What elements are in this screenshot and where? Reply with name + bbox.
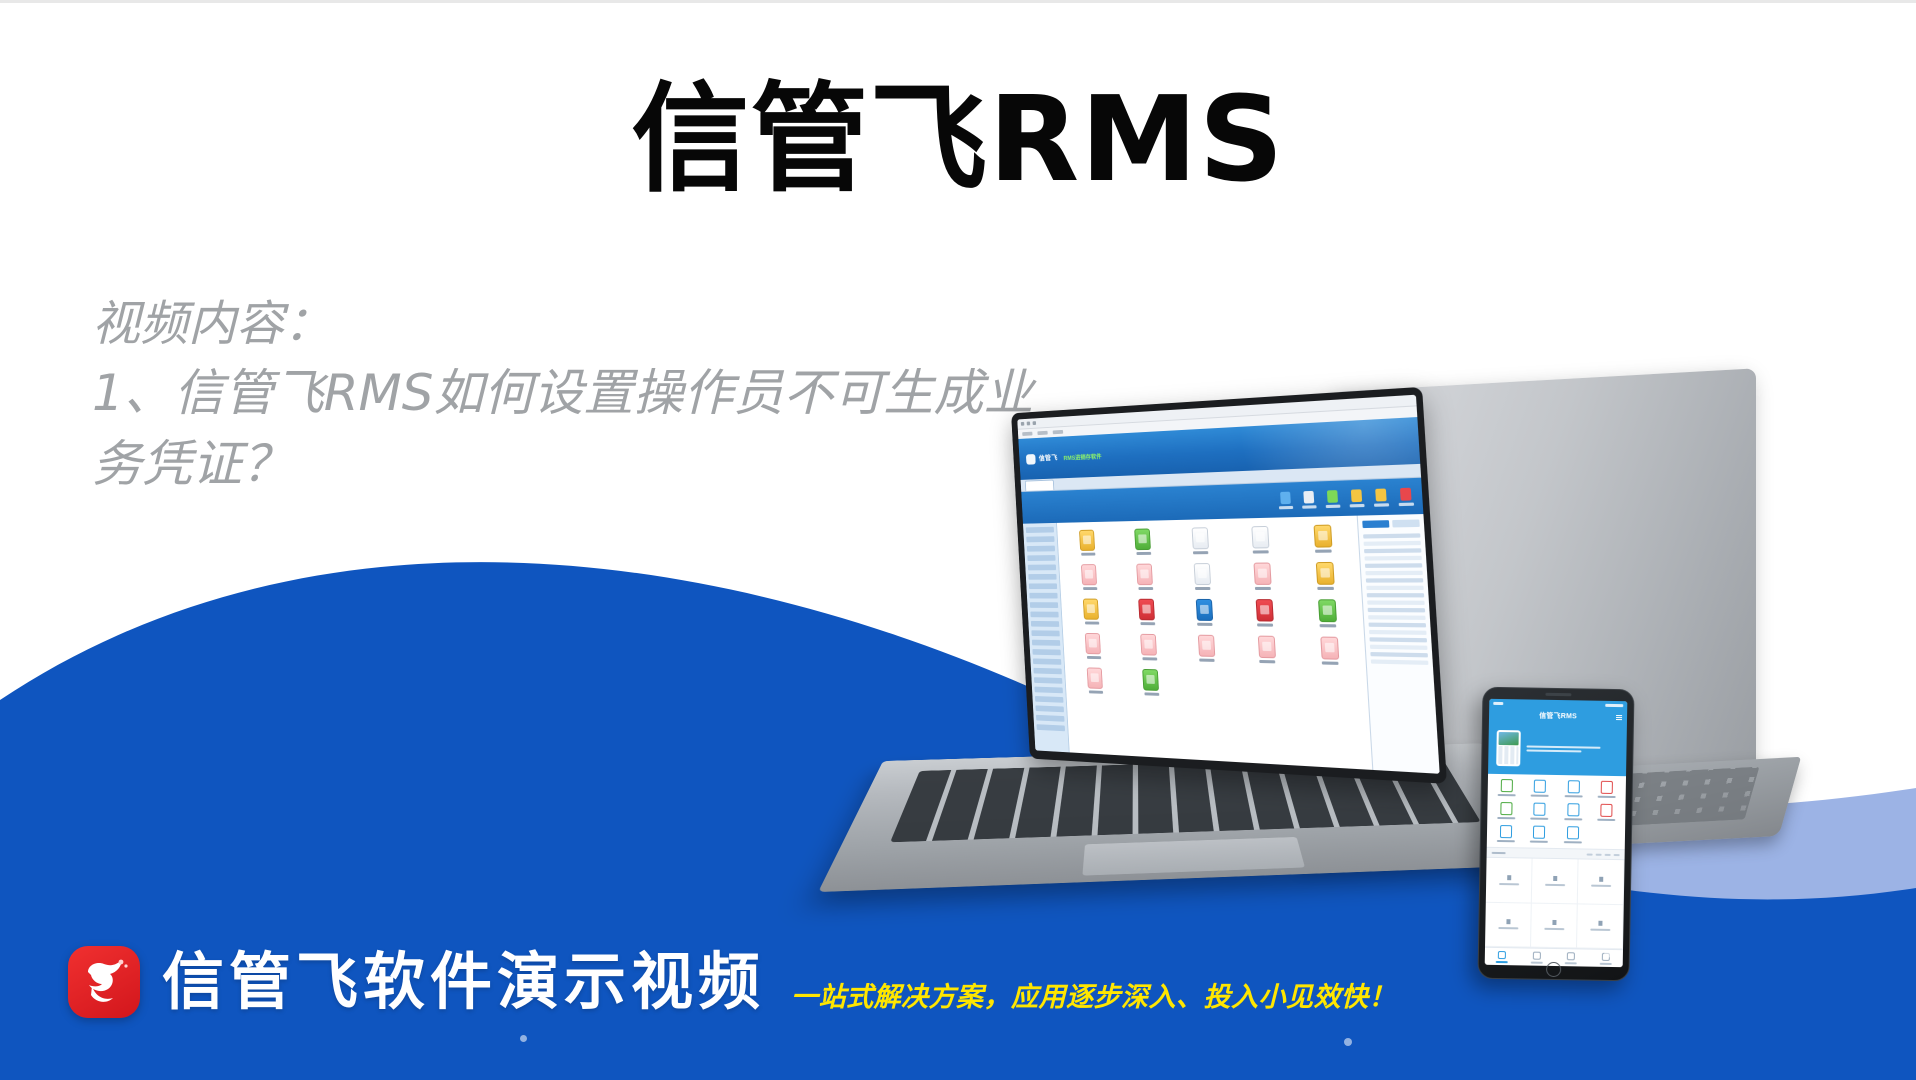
decorative-dot — [1604, 951, 1611, 958]
top-divider — [0, 0, 1916, 3]
promo-image — [1499, 732, 1519, 745]
toolbar-icon — [1375, 488, 1386, 501]
decorative-dot — [1344, 1038, 1352, 1046]
toolbar-icon — [1351, 489, 1362, 502]
module-icon — [1142, 669, 1159, 691]
window-icon — [1033, 421, 1037, 425]
sidebar-item[interactable] — [1034, 687, 1062, 694]
front-laptop-trackpad — [1082, 837, 1305, 876]
mobile-module-tile[interactable] — [1524, 825, 1555, 843]
right-panel-row[interactable] — [1368, 608, 1426, 613]
mobile-module-label — [1597, 819, 1615, 821]
module-icon — [1251, 526, 1269, 549]
mobile-app-header: 信管飞RMS — [1489, 707, 1627, 724]
mobile-module-label — [1563, 841, 1581, 843]
module-label — [1136, 552, 1151, 555]
brand-row: 信管飞软件演示视频 一站式解决方案，应用逐步深入、投入小见效快！ — [68, 946, 1396, 1018]
right-panel-row[interactable] — [1366, 578, 1423, 582]
mobile-module-label — [1564, 795, 1582, 797]
mobile-module-tile[interactable] — [1492, 779, 1523, 797]
module-label — [1260, 660, 1276, 663]
module-tile[interactable] — [1175, 563, 1230, 590]
stat-label — [1499, 883, 1519, 885]
module-icon — [1318, 599, 1337, 622]
mobile-module-label — [1498, 794, 1516, 796]
module-icon — [1198, 635, 1215, 657]
toolbar-button[interactable] — [1277, 491, 1294, 509]
mobile-module-icon — [1534, 780, 1546, 793]
stat-cell — [1486, 858, 1533, 903]
sidebar-item[interactable] — [1036, 715, 1065, 722]
right-panel-row[interactable] — [1369, 630, 1427, 635]
mobile-module-icon — [1567, 803, 1579, 816]
module-tile[interactable] — [1119, 563, 1172, 590]
window-icon — [1027, 422, 1031, 426]
mobile-module-icon — [1600, 804, 1612, 817]
stat-label — [1591, 884, 1611, 886]
mobile-module-icon — [1501, 779, 1513, 792]
mobile-module-label — [1497, 840, 1515, 842]
sidebar-item[interactable] — [1028, 574, 1056, 580]
module-tile[interactable] — [1121, 599, 1174, 626]
promo-phone-illustration — [1496, 730, 1521, 766]
module-icon — [1138, 599, 1155, 621]
toolbar-label — [1326, 504, 1341, 508]
right-panel-row[interactable] — [1364, 541, 1421, 546]
menu-item[interactable] — [1053, 430, 1064, 434]
module-label — [1142, 657, 1157, 660]
right-panel-tab[interactable] — [1362, 520, 1389, 528]
module-icon — [1194, 563, 1211, 585]
stat-cell — [1532, 859, 1579, 904]
laptop-screen: 信管飞 RMS进销存软件 — [1017, 395, 1439, 774]
toolbar-icon — [1303, 490, 1314, 503]
bottom-banner: 信管飞软件演示视频 一站式解决方案，应用逐步深入、投入小见效快！ — [0, 900, 1916, 1080]
sidebar-item[interactable] — [1030, 602, 1058, 608]
promo-text-lines — [1526, 745, 1618, 753]
sidebar-item[interactable] — [1029, 593, 1057, 599]
module-icon — [1136, 564, 1153, 586]
module-tile[interactable] — [1063, 529, 1113, 556]
module-icon — [1140, 634, 1157, 656]
toolbar-button[interactable] — [1397, 487, 1416, 506]
toolbar-button[interactable] — [1300, 490, 1317, 508]
module-label — [1315, 549, 1332, 552]
right-panel-row[interactable] — [1368, 615, 1426, 620]
sidebar-item[interactable] — [1027, 546, 1055, 552]
slide-canvas: 信管飞RMS 视频内容： 1、信管飞RMS如何设置操作员不可生成业 务凭证？ — [0, 0, 1916, 1080]
mobile-module-label — [1530, 841, 1548, 843]
module-tile[interactable] — [1064, 564, 1115, 590]
carrier-indicator — [1493, 701, 1503, 704]
erp-module-grid[interactable] — [1063, 524, 1362, 703]
module-icon — [1085, 633, 1101, 654]
brand-tagline: 一站式解决方案，应用逐步深入、投入小见效快！ — [791, 975, 1396, 1018]
sidebar-item[interactable] — [1031, 630, 1059, 636]
right-panel-row[interactable] — [1367, 593, 1425, 597]
mobile-module-label — [1531, 795, 1549, 797]
module-icon — [1134, 528, 1151, 550]
module-tile[interactable] — [1177, 599, 1232, 626]
right-panel-row[interactable] — [1367, 600, 1425, 604]
toolbar-button[interactable] — [1324, 489, 1342, 507]
module-icon — [1320, 637, 1339, 660]
promo-line — [1527, 745, 1601, 748]
window-icon — [1021, 422, 1025, 426]
mobile-module-icon — [1500, 825, 1512, 838]
stat-cell — [1578, 859, 1625, 904]
xinguanfei-bird-logo-icon — [68, 946, 140, 1018]
filter-option[interactable] — [1605, 853, 1611, 855]
module-icon — [1087, 667, 1103, 689]
toolbar-icon — [1327, 490, 1338, 503]
module-label — [1140, 622, 1155, 625]
module-icon — [1253, 563, 1271, 585]
module-tile[interactable] — [1123, 634, 1176, 661]
module-tile[interactable] — [1296, 562, 1355, 590]
mobile-module-tile[interactable] — [1558, 780, 1589, 798]
module-tile[interactable] — [1293, 524, 1352, 553]
module-tile[interactable] — [1117, 528, 1169, 555]
module-icon — [1315, 562, 1334, 585]
erp-body — [1023, 514, 1440, 774]
menu-item[interactable] — [1037, 431, 1047, 435]
module-label — [1193, 551, 1208, 554]
module-icon — [1079, 530, 1095, 551]
mobile-module-tile[interactable] — [1525, 779, 1556, 797]
toolbar-label — [1374, 503, 1389, 507]
mobile-module-icon — [1567, 826, 1579, 839]
sidebar-item[interactable] — [1029, 583, 1057, 589]
hamburger-menu-icon[interactable] — [1616, 714, 1622, 720]
right-panel-tabs[interactable] — [1362, 519, 1420, 528]
module-label — [1085, 622, 1099, 625]
sidebar-item[interactable] — [1035, 705, 1064, 712]
mobile-module-label — [1598, 796, 1616, 798]
toolbar-label — [1399, 502, 1414, 506]
module-tile[interactable] — [1066, 599, 1117, 625]
module-tile[interactable] — [1068, 633, 1119, 660]
filter-option[interactable] — [1614, 854, 1620, 856]
right-panel-row[interactable] — [1365, 563, 1422, 568]
menu-item[interactable] — [1022, 432, 1032, 436]
right-panel-row[interactable] — [1364, 548, 1421, 553]
module-label — [1198, 623, 1213, 626]
mobile-module-label — [1531, 818, 1549, 820]
sidebar-item[interactable] — [1027, 555, 1055, 561]
module-icon — [1196, 599, 1213, 621]
sidebar-item[interactable] — [1032, 640, 1060, 646]
erp-main-panel — [1057, 516, 1372, 770]
module-tile[interactable] — [1239, 635, 1296, 664]
module-label — [1083, 587, 1097, 590]
toolbar-button[interactable] — [1372, 488, 1390, 506]
toolbar-label — [1302, 505, 1316, 508]
sidebar-item[interactable] — [1034, 677, 1062, 684]
module-label — [1087, 656, 1101, 659]
decorative-dot — [520, 1035, 527, 1042]
mobile-module-spacer — [1591, 827, 1622, 845]
module-label — [1089, 690, 1103, 693]
mobile-module-tile[interactable] — [1524, 802, 1555, 820]
stat-value — [1599, 877, 1603, 882]
mobile-module-icon — [1567, 780, 1579, 793]
mobile-module-tile[interactable] — [1591, 804, 1622, 822]
promo-grid — [1498, 746, 1518, 764]
module-label — [1257, 623, 1273, 626]
device-mockup-group: 信管飞 RMS进销存软件 — [880, 370, 1916, 960]
sidebar-item[interactable] — [1026, 536, 1054, 542]
mobile-app-title: 信管飞RMS — [1539, 710, 1577, 721]
module-tile[interactable] — [1236, 599, 1293, 627]
sidebar-item[interactable] — [1032, 649, 1060, 655]
sidebar-item[interactable] — [1030, 612, 1058, 618]
erp-brand-name: 信管飞 — [1039, 453, 1058, 463]
signal-battery-icons — [1605, 703, 1623, 706]
erp-brand-subtitle: RMS进销存软件 — [1063, 451, 1101, 461]
module-tile[interactable] — [1232, 526, 1289, 554]
right-panel-row[interactable] — [1371, 659, 1429, 665]
stat-value — [1553, 876, 1557, 881]
module-label — [1322, 661, 1339, 665]
right-panel-row[interactable] — [1370, 652, 1428, 657]
module-tile[interactable] — [1125, 668, 1178, 696]
right-panel-row[interactable] — [1365, 571, 1422, 576]
sidebar-item[interactable] — [1031, 621, 1059, 627]
mobile-module-icon — [1601, 781, 1613, 794]
phone-earpiece — [1545, 693, 1571, 696]
erp-tab[interactable] — [1025, 480, 1054, 491]
sidebar-item[interactable] — [1028, 564, 1056, 570]
module-tile[interactable] — [1180, 634, 1235, 662]
module-icon — [1192, 527, 1209, 549]
erp-logo-icon — [1026, 454, 1036, 465]
module-label — [1317, 587, 1334, 590]
module-label — [1144, 692, 1159, 695]
module-tile[interactable] — [1298, 599, 1357, 627]
mobile-module-tile[interactable] — [1557, 826, 1588, 844]
sidebar-item[interactable] — [1026, 527, 1054, 533]
mobile-module-icon — [1533, 826, 1545, 839]
mobile-module-tile[interactable] — [1558, 803, 1589, 821]
mobile-module-icon — [1534, 803, 1546, 816]
front-laptop: 信管飞 RMS进销存软件 — [880, 400, 1520, 960]
right-panel-row[interactable] — [1369, 623, 1427, 628]
brand-name: 信管飞软件演示视频 — [162, 951, 765, 1013]
sidebar-item[interactable] — [1033, 658, 1061, 664]
mobile-module-tile[interactable] — [1491, 802, 1522, 820]
right-panel-tab[interactable] — [1392, 519, 1420, 527]
right-panel-row[interactable] — [1369, 637, 1427, 642]
toolbar-button[interactable] — [1348, 489, 1366, 507]
module-label — [1195, 587, 1210, 590]
mobile-module-grid[interactable] — [1487, 774, 1626, 849]
filter-option[interactable] — [1596, 853, 1602, 855]
stat-label — [1545, 884, 1565, 886]
module-icon — [1258, 636, 1276, 659]
sidebar-item[interactable] — [1037, 724, 1066, 731]
toolbar-label — [1279, 505, 1293, 508]
sidebar-item[interactable] — [1035, 696, 1064, 703]
mobile-module-tile[interactable] — [1591, 781, 1622, 799]
toolbar-icon — [1400, 487, 1412, 500]
module-label — [1253, 550, 1269, 553]
mobile-module-label — [1497, 817, 1515, 819]
right-panel-row[interactable] — [1364, 556, 1421, 561]
module-icon — [1313, 525, 1332, 548]
mobile-promo-banner — [1488, 722, 1627, 776]
module-icon — [1081, 564, 1097, 585]
module-icon — [1255, 599, 1273, 621]
sidebar-item[interactable] — [1033, 668, 1061, 674]
module-label — [1255, 587, 1271, 590]
mobile-module-tile[interactable] — [1491, 825, 1522, 843]
module-label — [1200, 659, 1215, 662]
promo-line — [1526, 749, 1581, 752]
right-panel-row[interactable] — [1366, 586, 1424, 590]
page-title: 信管飞RMS — [0, 78, 1916, 202]
section-title — [1492, 851, 1506, 853]
section-filters[interactable] — [1587, 853, 1620, 856]
right-panel-row[interactable] — [1363, 533, 1420, 538]
mobile-module-icon — [1500, 802, 1512, 815]
module-tile[interactable] — [1234, 562, 1291, 590]
module-label — [1320, 624, 1337, 627]
module-tile[interactable] — [1300, 636, 1359, 665]
module-tile[interactable] — [1070, 667, 1121, 694]
front-laptop-lid: 信管飞 RMS进销存软件 — [1011, 387, 1447, 784]
module-label — [1138, 587, 1153, 590]
right-panel-row[interactable] — [1370, 645, 1428, 650]
toolbar-icon — [1280, 491, 1291, 504]
module-icon — [1083, 599, 1099, 620]
video-content-heading: 视频内容： — [92, 290, 1152, 358]
module-label — [1081, 553, 1095, 556]
stat-value — [1507, 875, 1511, 880]
module-tile[interactable] — [1173, 527, 1228, 555]
toolbar-label — [1350, 503, 1365, 507]
filter-option[interactable] — [1587, 853, 1593, 855]
mobile-module-label — [1564, 818, 1582, 820]
